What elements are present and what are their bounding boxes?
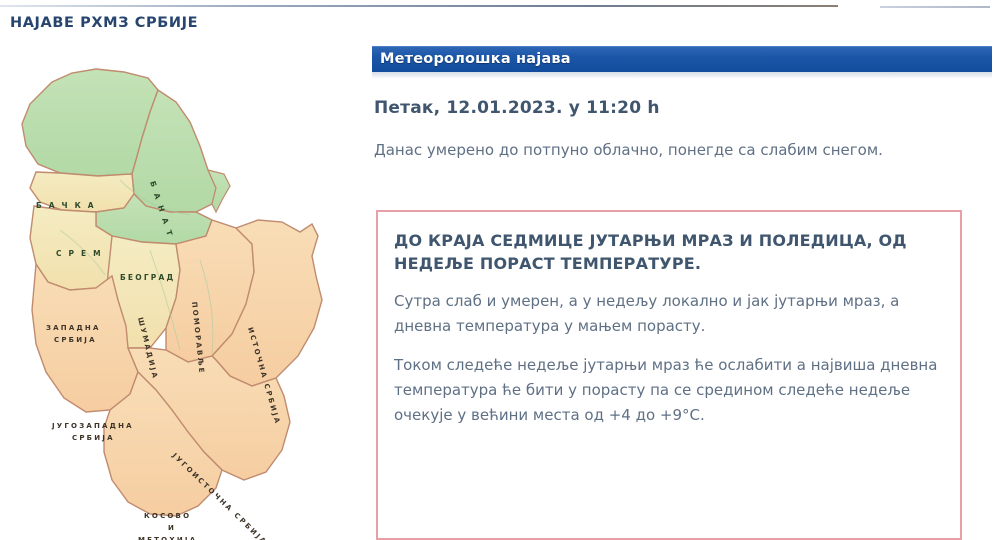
meteo-banner: Метеоролошка најава: [372, 46, 992, 72]
map-svg: Б А Ч К А Б А Н А Т С Р Е М БЕОГРАД ЗАПА…: [0, 60, 365, 540]
map-label-kosovo: КОСОВО: [144, 512, 191, 520]
top-divider-right: [880, 6, 990, 8]
map-label-srem: С Р Е М: [56, 249, 103, 258]
map-label-jugozapadna-srbija: ЈУГОЗАПАДНА: [51, 422, 134, 430]
map-label-jugozapadna-srbija-line2: СРБИЈА: [72, 434, 115, 442]
banner-shadow: [372, 72, 992, 79]
alert-heading: ДО КРАЈА СЕДМИЦЕ ЈУТАРЊИ МРАЗ И ПОЛЕДИЦА…: [378, 212, 960, 275]
weather-alert-box: ДО КРАЈА СЕДМИЦЕ ЈУТАРЊИ МРАЗ И ПОЛЕДИЦА…: [376, 210, 962, 540]
page-title: НАЈАВЕ РХМЗ СРБИЈЕ: [10, 15, 198, 31]
forecast-datetime: Петак, 12.01.2023. у 11:20 h: [374, 98, 660, 118]
map-label-kosovo-and: И: [168, 524, 176, 532]
map-label-beograd: БЕОГРАД: [120, 273, 175, 282]
forecast-content: Метеоролошка најава Петак, 12.01.2023. у…: [368, 46, 1000, 540]
map-label-zapadna-srbija: ЗАПАДНА: [46, 324, 101, 332]
forecast-lead: Данас умерено до потпуно облачно, понегд…: [374, 138, 974, 163]
page-root: НАЈАВЕ РХМЗ СРБИЈЕ: [0, 0, 1000, 540]
map-label-metohija: МЕТОХИЈА: [138, 536, 197, 540]
serbia-region-map: Б А Ч К А Б А Н А Т С Р Е М БЕОГРАД ЗАПА…: [0, 60, 365, 540]
map-label-backa: Б А Ч К А: [36, 201, 96, 210]
alert-paragraph-2: Током следеће недеље јутарњи мраз ће осл…: [378, 339, 960, 428]
alert-paragraph-1: Сутра слаб и умерен, а у недељу локално …: [378, 275, 960, 339]
map-label-zapadna-srbija-line2: СРБИЈА: [54, 336, 97, 344]
top-divider: [0, 5, 838, 7]
meteo-banner-label: Метеоролошка најава: [372, 47, 992, 67]
